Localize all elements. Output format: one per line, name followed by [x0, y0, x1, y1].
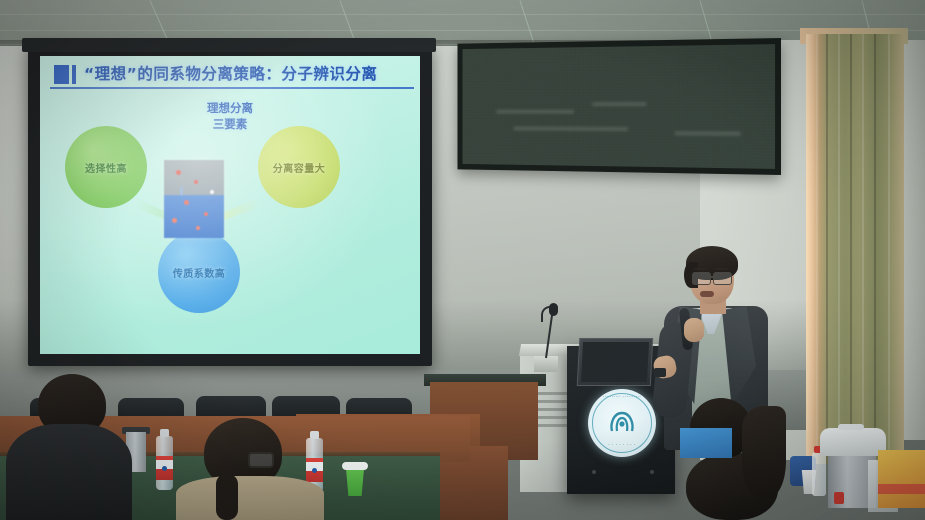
water-boiler-lid — [820, 428, 886, 456]
chalkboard — [458, 38, 781, 175]
center-label-line2: 三要素 — [170, 116, 290, 132]
title-underline — [50, 87, 414, 89]
presenter-hand-holding-mic — [684, 318, 704, 342]
green-cup-rim — [342, 462, 368, 470]
slide-center-label: 理想分离 三要素 — [170, 100, 290, 132]
audience-ponytail — [216, 474, 238, 520]
bubble-capacity: 分离容量大 — [258, 126, 340, 208]
molecule-illustration — [164, 160, 224, 238]
curtain-sunlight-edge — [806, 34, 820, 464]
projection-screen: “理想”的同系物分离策略：分子辨识分离 理想分离 三要素 选择性高 分离容量大 … — [28, 44, 432, 366]
laptop[interactable] — [577, 338, 654, 386]
slide-surface: “理想”的同系物分离策略：分子辨识分离 理想分离 三要素 选择性高 分离容量大 … — [40, 56, 420, 354]
bottle-cap — [160, 429, 169, 437]
water-bottle — [156, 436, 173, 490]
presenter-glasses-bridge — [708, 276, 714, 278]
chalkboard-texture — [463, 44, 776, 169]
plastic-bag-stripe — [878, 484, 925, 494]
microphone-base — [534, 356, 558, 372]
audience-shoulders — [6, 424, 132, 520]
bubble-selectivity-label: 选择性高 — [85, 160, 127, 175]
center-label-line1: 理想分离 — [170, 100, 290, 116]
laptop-screen — [581, 342, 649, 382]
title-accent-mark — [54, 65, 69, 84]
lecture-hall-screenshot: “理想”的同系物分离策略：分子辨识分离 理想分离 三要素 选择性高 分离容量大 … — [0, 0, 925, 520]
emblem-figure-icon — [606, 407, 638, 437]
presentation-clicker — [654, 368, 666, 377]
bottle-label — [156, 456, 173, 480]
bubble-mass-transfer: 传质系数高 — [158, 231, 240, 313]
water-boiler-handle — [838, 424, 864, 430]
audience-blue-top — [680, 428, 732, 458]
presenter-mouth — [700, 291, 714, 297]
bubble-capacity-label: 分离容量大 — [273, 160, 326, 175]
emblem-rim-text-bottom: · · · · · · · · — [588, 443, 656, 448]
bottle-cap — [310, 431, 319, 439]
gooseneck-microphone-head — [549, 303, 558, 316]
slide-title: “理想”的同系物分离策略：分子辨识分离 — [84, 62, 414, 84]
bubble-mass-transfer-label: 传质系数高 — [173, 265, 226, 280]
chair — [196, 396, 266, 418]
plastic-bag — [878, 450, 925, 508]
university-emblem: ·········· ·········· · · · · · · · · — [588, 389, 656, 457]
water-boiler-tap — [834, 492, 844, 504]
bottle-label — [306, 458, 323, 482]
window-curtain — [806, 34, 904, 464]
beam-right — [218, 196, 258, 222]
bubble-selectivity: 选择性高 — [65, 126, 147, 208]
emblem-rim-text-top: ·········· ·········· — [588, 395, 656, 400]
small-bottle — [812, 452, 826, 496]
audience-long-hair — [742, 406, 786, 498]
audience-glasses — [248, 452, 274, 468]
audience-shoulders — [176, 476, 324, 520]
